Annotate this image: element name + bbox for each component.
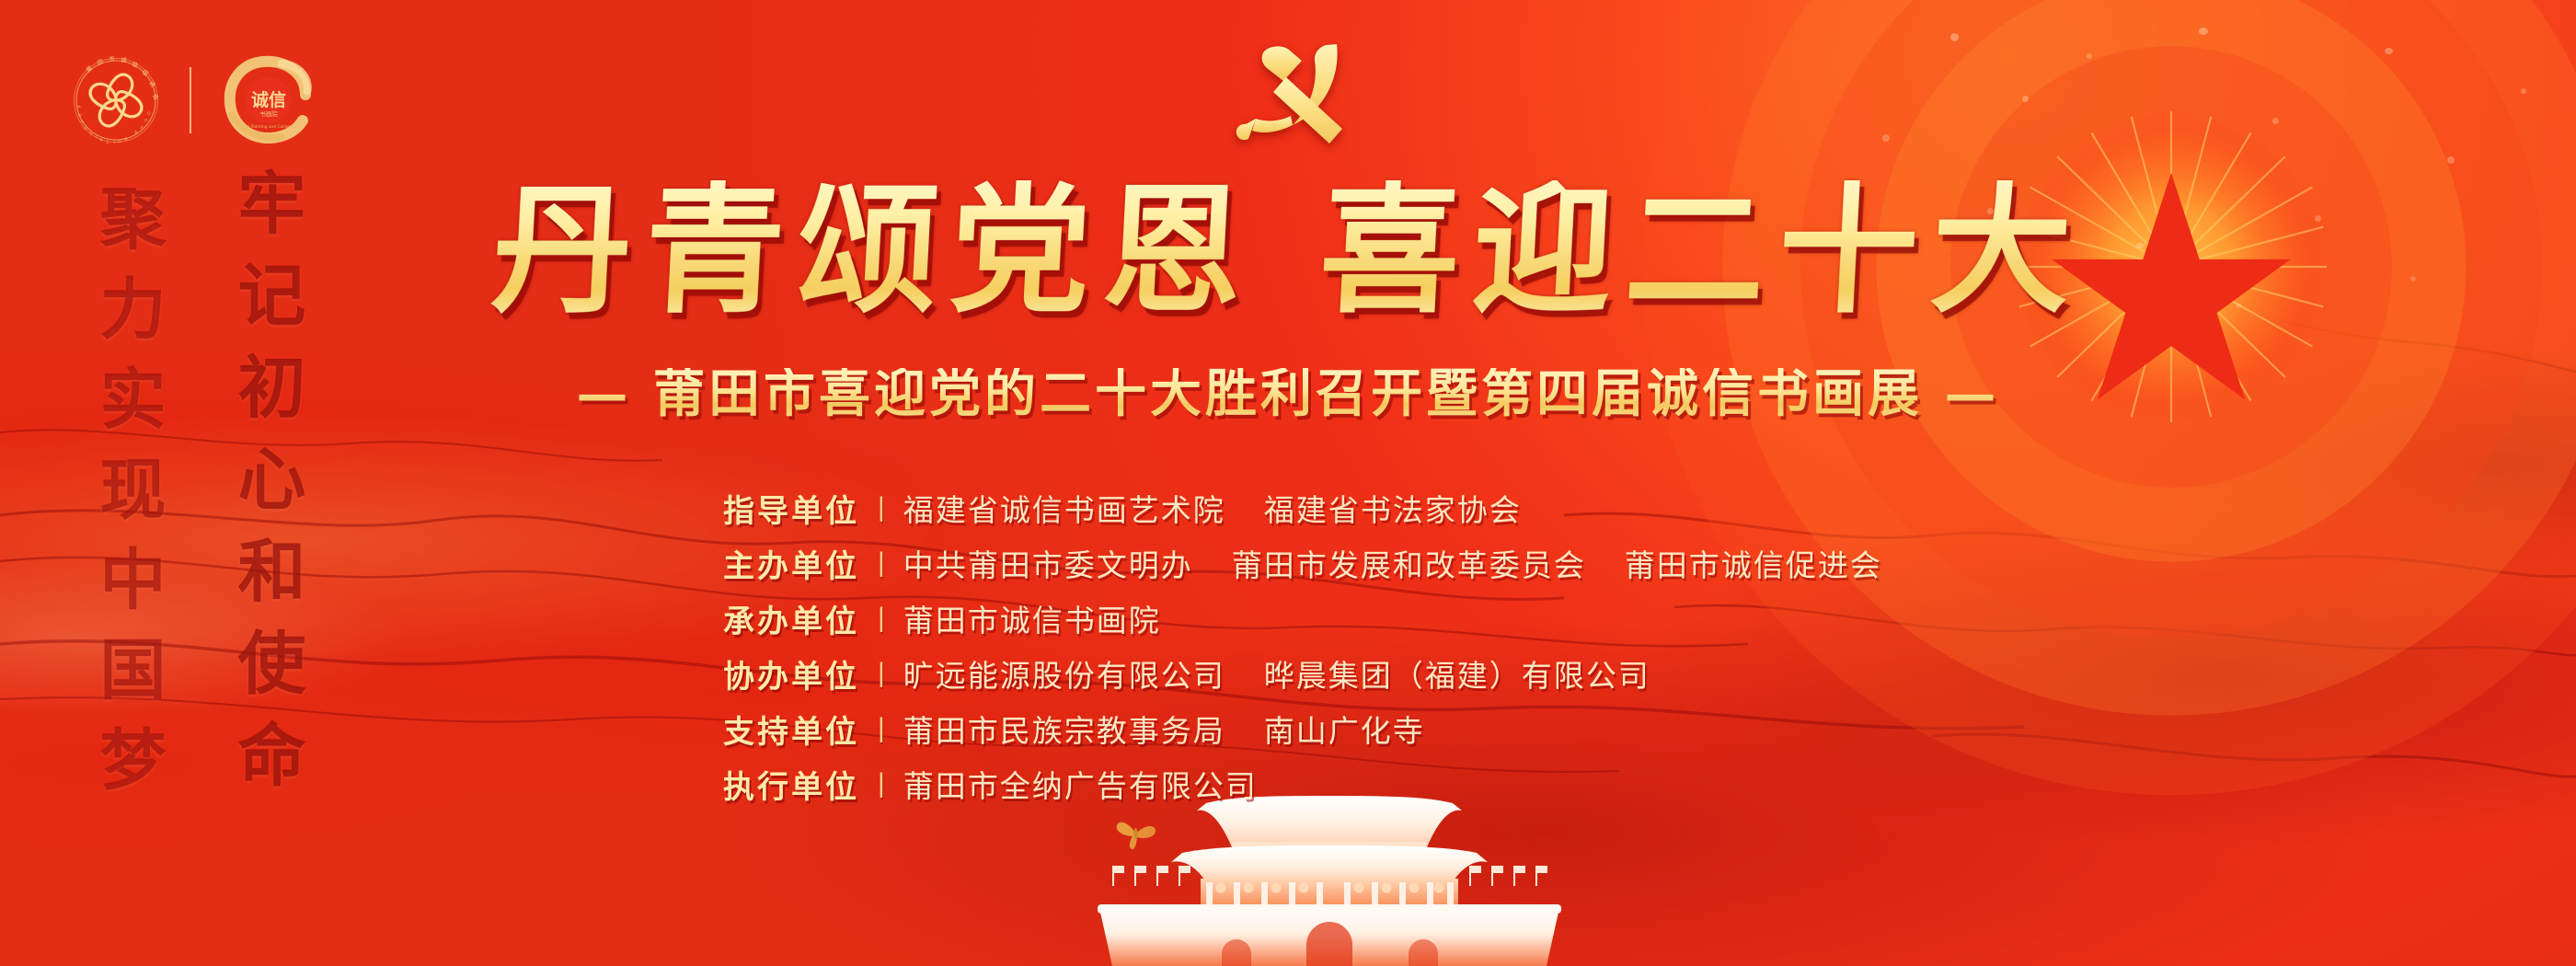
credit-value: 莆田市发展和改革委员会: [1232, 541, 1586, 585]
credit-label: 指导单位: [723, 486, 863, 531]
svg-text:A: A: [98, 136, 103, 143]
shuhuayuan-logo-icon: 诚信 书画院 Putian Painting and Calligraphy: [215, 55, 328, 145]
svg-text:O: O: [146, 110, 153, 116]
credit-values: 莆田市诚信书画院: [903, 596, 1161, 640]
main-title-block: 丹青颂党恩喜迎二十大: [0, 180, 2576, 320]
credit-values: 旷远能源股份有限公司 晔晨集团（福建）有限公司: [903, 651, 1650, 696]
svg-text:市: 市: [109, 56, 117, 63]
cpc-party-emblem-icon: [1228, 29, 1366, 163]
title-part-2: 喜迎二十大: [1316, 167, 2087, 332]
svg-text:A: A: [75, 104, 82, 109]
credits-list: 指导单位 | 福建省诚信书画艺术院 福建省书法家协会 主办单位 | 中共莆田市委…: [723, 480, 1882, 811]
main-title: 丹青颂党恩喜迎二十大: [489, 180, 2087, 320]
credit-label: 承办单位: [723, 596, 863, 641]
credit-value: 旷远能源股份有限公司: [903, 651, 1225, 696]
credit-label: 支持单位: [723, 707, 863, 752]
gate-lower-roof: [1171, 845, 1488, 882]
credit-value: 莆田市全纳广告有限公司: [903, 762, 1258, 806]
credit-row: 协办单位 | 旷远能源股份有限公司 晔晨集团（福建）有限公司: [723, 646, 1882, 701]
svg-text:N: N: [123, 135, 128, 142]
poster-canvas: 莆 田 市 诚 信 促 进 会 AS SO CI AT IO N RE: [0, 0, 2576, 966]
logo-group: 莆 田 市 诚 信 促 进 会 AS SO CI AT IO N RE: [66, 55, 328, 145]
credit-value: 晔晨集团（福建）有限公司: [1264, 651, 1650, 696]
credit-separator: |: [878, 547, 885, 579]
speckle-dot: [1950, 33, 1959, 41]
credit-label: 主办单位: [723, 541, 863, 586]
svg-text:I: I: [114, 138, 116, 144]
svg-text:诚信: 诚信: [251, 89, 286, 110]
credit-values: 莆田市民族宗教事务局 南山广化寺: [903, 707, 1425, 751]
speckle-dot: [2521, 88, 2526, 94]
credit-values: 莆田市全纳广告有限公司: [903, 762, 1258, 806]
credit-row: 主办单位 | 中共莆田市委文明办 莆田市发展和改革委员会 莆田市诚信促进会: [723, 535, 1882, 591]
golden-butterfly-icon: [1115, 814, 1157, 851]
credit-separator: |: [878, 658, 885, 689]
logo-divider: [190, 67, 191, 133]
credit-label: 执行单位: [723, 762, 863, 807]
speckle-dot: [2022, 96, 2029, 102]
credit-row: 执行单位 | 莆田市全纳广告有限公司: [723, 756, 1882, 811]
credit-separator: |: [878, 768, 885, 799]
gate-flags-right: [1469, 866, 1547, 886]
svg-text:O: O: [117, 137, 121, 144]
credit-value: 莆田市诚信促进会: [1625, 541, 1882, 585]
credit-row: 指导单位 | 福建省诚信书画艺术院 福建省书法家协会: [723, 480, 1882, 535]
credit-row: 承办单位 | 莆田市诚信书画院: [723, 591, 1882, 646]
speckle-dot: [2447, 156, 2455, 164]
svg-text:T: T: [106, 138, 110, 144]
speckle-dot: [2199, 28, 2208, 35]
credit-value: 南山广化寺: [1264, 707, 1425, 751]
credit-value: 福建省诚信书画艺术院: [903, 486, 1225, 530]
svg-text:书画院: 书画院: [259, 109, 278, 118]
svg-text:Putian Painting and Calligraph: Putian Painting and Calligraphy: [237, 124, 301, 130]
speckle-dot: [1882, 134, 1890, 142]
subtitle-block: — 莆田市喜迎党的二十大胜利召开暨第四届诚信书画展 —: [0, 368, 2576, 420]
chengxin-association-logo-icon: 莆 田 市 诚 信 促 进 会 AS SO CI AT IO N RE: [66, 56, 166, 144]
credit-value: 中共莆田市委文明办: [903, 541, 1193, 585]
svg-text:促: 促: [141, 67, 151, 77]
speckle-dot: [2272, 118, 2279, 124]
credit-value: 莆田市诚信书画院: [903, 596, 1161, 640]
subtitle: — 莆田市喜迎党的二十大胜利召开暨第四届诚信书画展 —: [577, 368, 2000, 420]
gate-flags-left: [1112, 866, 1190, 886]
credit-separator: |: [878, 603, 885, 634]
credit-values: 中共莆田市委文明办 莆田市发展和改革委员会 莆田市诚信促进会: [903, 541, 1882, 585]
credit-label: 协办单位: [723, 651, 863, 696]
credit-separator: |: [878, 492, 885, 523]
credit-row: 支持单位 | 莆田市民族宗教事务局 南山广化寺: [723, 701, 1882, 756]
speckle-dot: [2385, 48, 2393, 54]
svg-text:诚: 诚: [121, 56, 128, 64]
credit-values: 福建省诚信书画艺术院 福建省书法家协会: [903, 486, 1522, 530]
speckle-dot: [2087, 53, 2092, 59]
credit-value: 福建省书法家协会: [1264, 486, 1522, 530]
credit-separator: |: [878, 713, 885, 744]
title-part-1: 丹青颂党恩: [488, 167, 1259, 332]
credit-value: 莆田市民族宗教事务局: [903, 707, 1225, 751]
